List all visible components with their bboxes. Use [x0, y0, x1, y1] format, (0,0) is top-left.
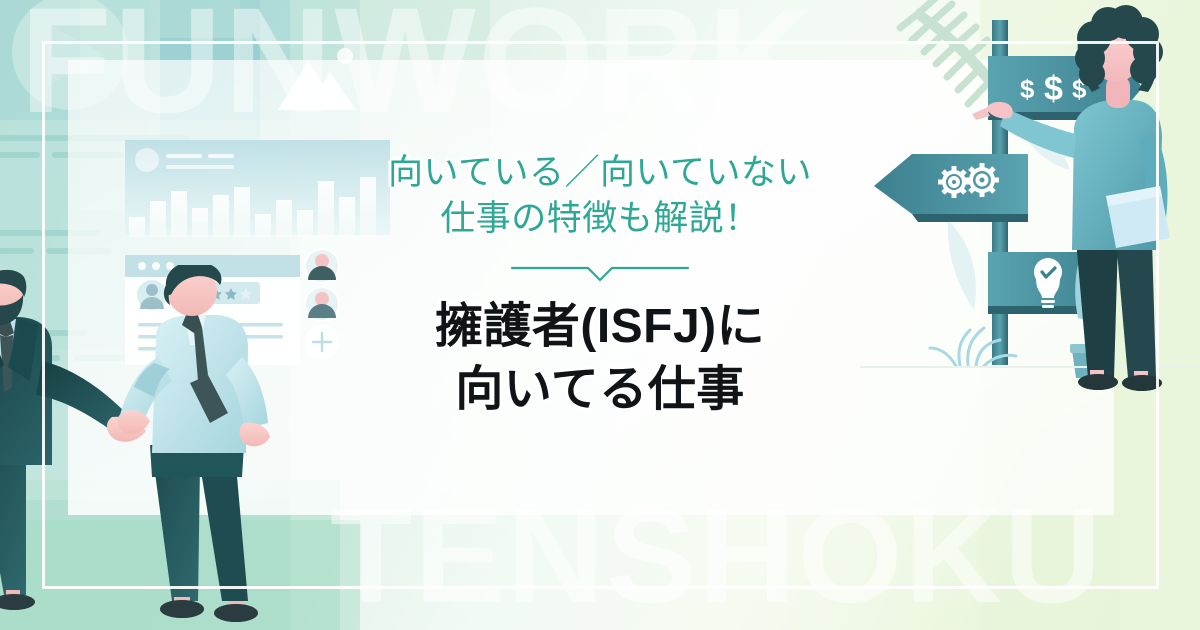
career-signpost: $ $ $: [860, 0, 1200, 420]
subtitle-line-1: 向いている／向いていない: [336, 150, 864, 196]
svg-text:$: $: [1020, 74, 1035, 104]
fern-leaf: [900, 0, 1000, 104]
young-man-in-shirt: [118, 265, 271, 622]
avatar-stack: [304, 248, 340, 359]
watermark-bottom: TENSHOKU: [330, 478, 1104, 630]
thumbnail-canvas: FUNWORK TENSHOKU: [0, 0, 1200, 630]
bearded-man-in-suit: [0, 269, 146, 610]
headline-block: 向いている／向いていない 仕事の特徴も解説！ 擁護者(ISFJ)に 向いてる仕事: [336, 150, 864, 421]
subtitle-line-2: 仕事の特徴も解説！: [336, 196, 864, 242]
title-line-2: 向いてる仕事: [336, 359, 864, 421]
divider-ornament: [510, 260, 690, 284]
svg-text:$: $: [1044, 70, 1063, 108]
title-line-1: 擁護者(ISFJ)に: [336, 296, 864, 358]
business-handshake: [0, 265, 286, 630]
sign-gears: [874, 154, 1028, 222]
